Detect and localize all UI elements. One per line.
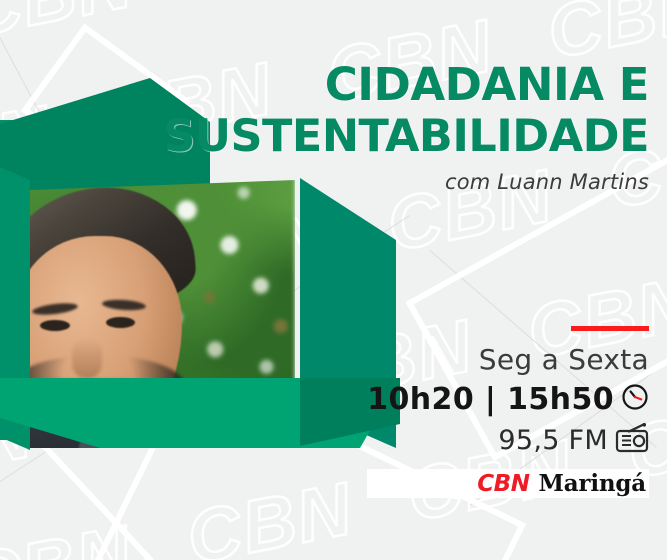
schedule-times: 10h20 | 15h50 bbox=[367, 382, 614, 417]
brand-city-text: Maringá bbox=[538, 470, 646, 497]
headline-block: CIDADANIA E SUSTENTABILIDADE com Luann M… bbox=[163, 62, 649, 194]
schedule-times-row: 10h20 | 15h50 bbox=[367, 382, 649, 417]
headline-subtitle: com Luann Martins bbox=[163, 170, 649, 194]
schedule-frequency-row: 95,5 FM bbox=[367, 423, 649, 458]
schedule-frequency: 95,5 FM bbox=[498, 425, 608, 456]
headline-line-1: CIDADANIA E bbox=[163, 62, 649, 107]
red-divider bbox=[571, 326, 649, 331]
eye-left bbox=[40, 320, 70, 331]
brand-network-text: CBN bbox=[477, 471, 529, 497]
clock-icon bbox=[621, 383, 649, 416]
eye-right bbox=[106, 317, 135, 328]
radio-icon bbox=[615, 423, 649, 458]
schedule-days: Seg a Sexta bbox=[367, 345, 649, 375]
station-logo: CBN Maringá bbox=[367, 469, 649, 498]
radio-show-poster: CBNCBNCBNCBNCBN CBNCBNCBNCBNCBN CBNCBNCB… bbox=[0, 0, 667, 560]
headline-line-2: SUSTENTABILIDADE bbox=[163, 114, 649, 159]
schedule-block: Seg a Sexta 10h20 | 15h50 95,5 FM bbox=[367, 326, 649, 498]
